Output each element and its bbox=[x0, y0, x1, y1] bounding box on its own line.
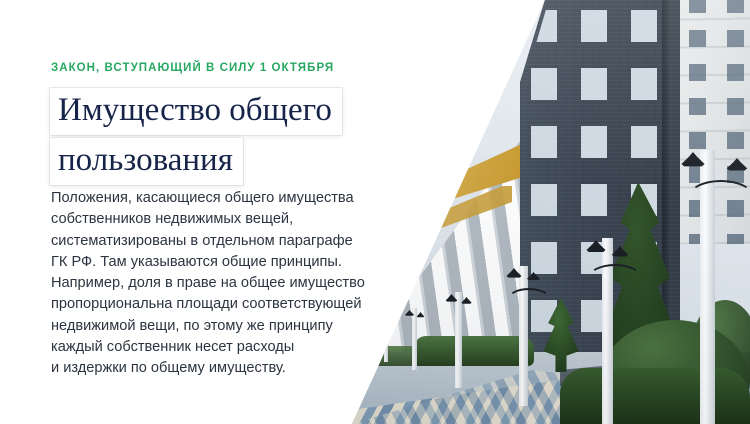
lamp-scroll-arm-3 bbox=[507, 288, 551, 312]
lamp-post-4 bbox=[455, 292, 462, 388]
body-line-3: систематизированы в отдельном параграфе bbox=[51, 231, 423, 252]
shrub-row-foreground bbox=[560, 368, 750, 424]
headline-line-1: Имущество общего bbox=[50, 88, 342, 135]
body-line-4: ГК РФ. Там указываются общие принципы. bbox=[51, 252, 423, 273]
body-line-7: недвижимой вещи, по этому же принципу bbox=[51, 316, 423, 337]
body-line-1: Положения, касающиеся общего имущества bbox=[51, 188, 423, 209]
body-line-6: пропорциональна площади соответствующей bbox=[51, 294, 423, 315]
body-line-8: каждый собственник несет расходы bbox=[51, 337, 423, 358]
lamp-scroll-arm-1 bbox=[688, 180, 750, 214]
headline-row-1: Имущество общего bbox=[50, 88, 428, 138]
lamp-post-3 bbox=[519, 266, 528, 406]
body-paragraph: Положения, касающиеся общего имущества с… bbox=[51, 188, 423, 380]
body-line-5: Например, доля в праве на общее имуществ… bbox=[51, 273, 423, 294]
text-column: ЗАКОН, ВСТУПАЮЩИЙ В СИЛУ 1 ОКТЯБРЯ Имуще… bbox=[50, 0, 428, 424]
headline-line-2: пользования bbox=[50, 138, 243, 185]
hedge-near bbox=[414, 336, 534, 366]
body-line-9: и издержки по общему имуществу. bbox=[51, 358, 423, 379]
promo-card: ЗАКОН, ВСТУПАЮЩИЙ В СИЛУ 1 ОКТЯБРЯ Имуще… bbox=[0, 0, 750, 424]
headline-row-2: пользования bbox=[50, 138, 428, 188]
lamp-scroll-arm-2 bbox=[588, 264, 642, 292]
eyebrow-label: ЗАКОН, ВСТУПАЮЩИЙ В СИЛУ 1 ОКТЯБРЯ bbox=[51, 62, 334, 74]
page-title: Имущество общего пользования bbox=[50, 88, 428, 188]
body-line-2: собственников недвижимых вещей, bbox=[51, 209, 423, 230]
